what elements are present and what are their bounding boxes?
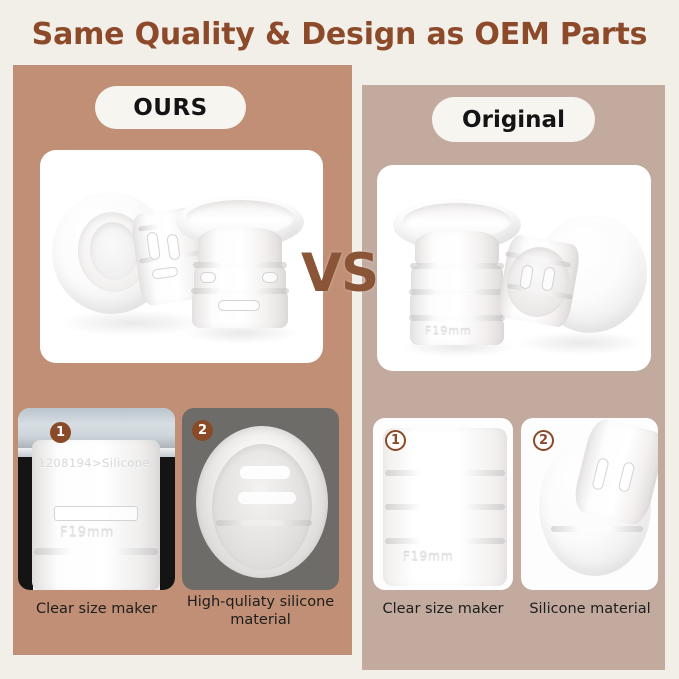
embossed-material-text: 1208194>Silicone (38, 456, 150, 470)
main-photo-ours (40, 150, 323, 363)
label-original: Original (432, 97, 595, 142)
caption-original-1: Clear size maker (371, 601, 515, 619)
detail-photo-original-2: 2 (521, 418, 658, 590)
page-title: Same Quality & Design as OEM Parts (0, 17, 679, 52)
label-ours: OURS (95, 86, 246, 129)
caption-original-2: Silicone material (519, 601, 661, 619)
caption-ours-2: High-quliaty silicone material (180, 594, 341, 629)
vs-badge: VS (301, 243, 378, 304)
detail-photo-ours-1: 1208194>Silicone F19mm 1 (18, 408, 175, 590)
label-ours-text: OURS (133, 95, 208, 121)
badge-ours-2: 2 (192, 420, 213, 441)
detail-photo-ours-2: 2 (182, 408, 339, 590)
caption-ours-1: Clear size maker (18, 601, 175, 619)
label-original-text: Original (462, 107, 565, 133)
badge-original-2: 2 (533, 430, 554, 451)
size-marking-original: F19mm (403, 550, 454, 564)
main-photo-original: F19mm (377, 165, 651, 371)
badge-ours-1: 1 (50, 422, 71, 443)
size-marking-ours: F19mm (60, 526, 114, 541)
detail-photo-original-1: F19mm 1 (373, 418, 513, 590)
comparison-infographic: Same Quality & Design as OEM Parts (0, 0, 679, 679)
badge-original-1: 1 (385, 430, 406, 451)
